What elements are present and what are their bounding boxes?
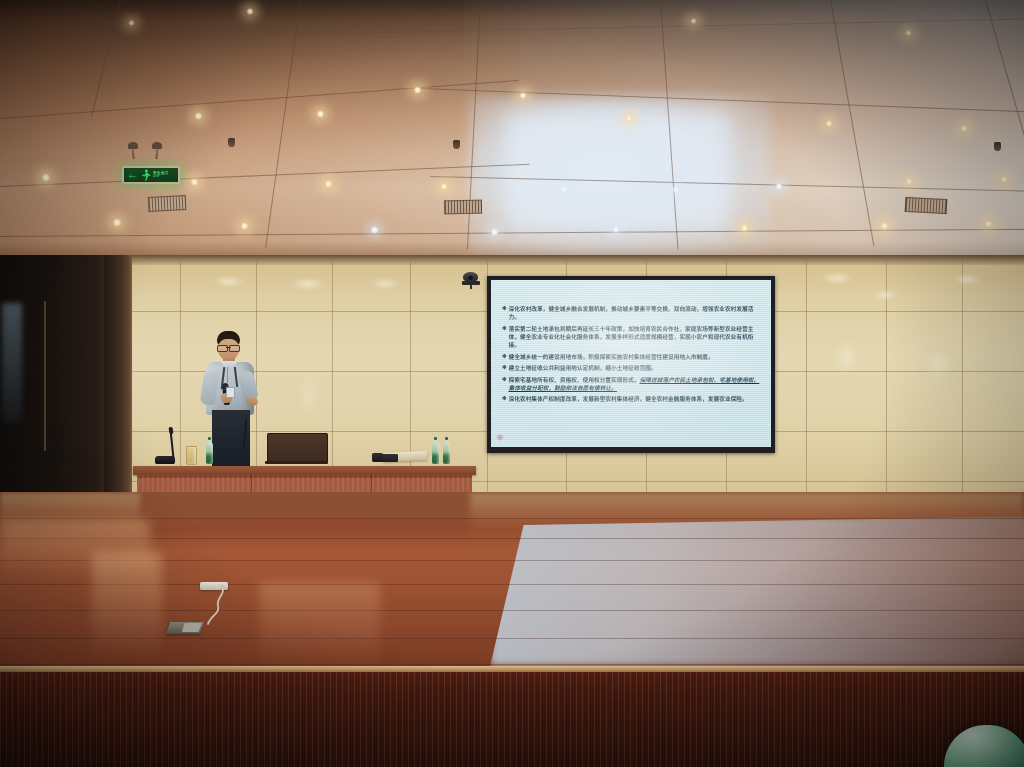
wall-gloss xyxy=(822,273,852,283)
ceiling-downlight xyxy=(905,178,913,185)
ptz-camera-icon xyxy=(462,272,480,288)
exit-sign-text: 安全出口 EXIT xyxy=(153,172,168,179)
wall-header-band xyxy=(0,255,1024,265)
ceiling-air-vent xyxy=(444,200,482,215)
stage-front-panel xyxy=(0,672,1024,767)
ceiling-downlight xyxy=(324,180,333,188)
wall-gloss xyxy=(372,279,398,288)
ceiling-downlight xyxy=(905,30,912,36)
presenter-shirt-placket xyxy=(227,367,228,383)
stage-floor xyxy=(0,492,1024,680)
ceiling-downlight xyxy=(625,115,633,122)
bullet-text: 深化农村集体产权制度改革，发展新型农村集体经济，健全农村金融服务体系，发展农业保… xyxy=(509,396,748,404)
floor-power-socket xyxy=(166,622,204,634)
ceiling-downlight xyxy=(128,20,135,26)
id-badge xyxy=(226,387,235,398)
wall-gloss xyxy=(214,277,244,286)
ceiling-air-vent xyxy=(905,197,948,214)
wall-gloss xyxy=(874,291,896,299)
door-glass xyxy=(2,303,22,423)
ceiling-downlight xyxy=(41,173,51,182)
bottle-body xyxy=(206,443,213,464)
ceiling-downlight xyxy=(240,222,249,230)
slide-bullet: ✻ 深化农村集体产权制度改革，发展新型农村集体经济，健全农村金融服务体系，发展农… xyxy=(502,396,763,404)
water-bottle xyxy=(206,437,213,464)
wall-panel-seam xyxy=(962,259,963,495)
slide-watermark: 中 xyxy=(497,433,503,442)
exit-sign-mount xyxy=(152,142,162,149)
ceiling-downlight xyxy=(960,125,968,132)
slide-bullet: ✻ 探索宅基地所有权、资格权、使用权分置实现形式，保障进城落户农民土地承包权、宅… xyxy=(502,377,763,393)
exit-sign-mount xyxy=(128,142,138,149)
ceiling-air-vent xyxy=(148,195,187,212)
bullet-text-plain: 探索宅基地所有权、资格权、使用权分置实现形式， xyxy=(509,378,640,384)
exit-sign-panel: ← 安全出口 EXIT xyxy=(122,166,180,184)
wall-panel-seam xyxy=(180,259,181,495)
running-person-icon xyxy=(140,169,151,181)
floor-plank-line xyxy=(0,518,1024,519)
floor-specular-streak xyxy=(92,552,162,662)
power-cable xyxy=(196,578,256,634)
telephone-body xyxy=(381,454,398,462)
wall-gloss xyxy=(292,279,324,289)
ceiling-downlight xyxy=(672,186,680,193)
slide-bullet: ✻ 健全城乡统一的建设用地市场，积极探索实施农村集体经营性建设用地入市制度。 xyxy=(502,354,763,362)
ceiling-downlight xyxy=(825,120,833,127)
wall-gloss xyxy=(954,275,980,284)
bullet-text: 探索宅基地所有权、资格权、使用权分置实现形式，保障进城落户农民土地承包权、宅基地… xyxy=(509,377,763,393)
socket-lid xyxy=(182,623,202,632)
camera-arm xyxy=(470,284,472,289)
ceiling-downlight xyxy=(880,222,889,230)
wall-dark-strip xyxy=(104,255,130,495)
ceiling-downlight xyxy=(190,178,199,186)
ceiling-downlight xyxy=(316,110,325,118)
ceiling-downlight xyxy=(112,218,122,227)
ceiling-downlight xyxy=(984,220,993,228)
desk-telephone xyxy=(372,452,398,463)
slide-bullet: ✻ 深化农村改革，健全城乡融合发展机制，推动城乡要素平等交换、双向流动，增强农业… xyxy=(502,306,763,322)
ceiling-downlight xyxy=(440,183,448,190)
bullet-marker-icon: ✻ xyxy=(502,326,507,334)
floor-plank-line xyxy=(0,664,1024,665)
emergency-exit-sign: ← 安全出口 EXIT xyxy=(122,158,180,184)
ceiling: ← 安全出口 EXIT xyxy=(0,0,1024,262)
glasses-icon xyxy=(217,345,240,350)
bullet-text: 建立土地征收公共利益用地认定机制，缩小土地征收范围。 xyxy=(509,365,657,373)
conference-hall-photo: ← 安全出口 EXIT xyxy=(0,0,1024,767)
bullet-marker-icon: ✻ xyxy=(502,306,507,314)
ceiling-sensor-icon xyxy=(994,142,1001,151)
ceiling-downlight xyxy=(690,18,697,24)
floor-plank-line xyxy=(0,538,1024,539)
ceiling-downlight xyxy=(560,186,568,193)
wall-panel-seam xyxy=(332,259,333,495)
glasses-lens-right xyxy=(229,345,240,352)
ceiling-downlight xyxy=(612,226,620,233)
table-top-edge xyxy=(133,466,476,475)
bottle-body xyxy=(443,443,450,464)
stage-front-ribs xyxy=(0,672,1024,767)
ceiling-downlight xyxy=(246,8,254,15)
laptop-base xyxy=(265,461,328,464)
exit-sign-text-en: EXIT xyxy=(153,175,168,178)
slide-bullet: ✻ 建立土地征收公共利益用地认定机制，缩小土地征收范围。 xyxy=(502,365,763,373)
ceiling-sensor-icon xyxy=(453,140,460,149)
ceiling-sensor-icon xyxy=(228,138,235,147)
ceiling-daylight-core xyxy=(505,112,730,232)
wall-gloss xyxy=(300,375,318,415)
wall-panel-seam xyxy=(806,259,807,495)
wall-gloss xyxy=(926,351,952,377)
bullet-marker-icon: ✻ xyxy=(502,354,507,362)
ceiling-downlight xyxy=(1000,176,1008,183)
laptop xyxy=(265,433,328,464)
ceiling-downlight xyxy=(490,228,499,236)
slide-content: ✻ 深化农村改革，健全城乡融合发展机制，推动城乡要素平等交换、双向流动，增强农业… xyxy=(502,306,763,405)
door-edge xyxy=(44,301,46,451)
bullet-marker-icon: ✻ xyxy=(502,377,507,385)
water-bottle xyxy=(432,437,439,464)
ceiling-downlight xyxy=(413,86,422,94)
exit-arrow-icon: ← xyxy=(127,170,138,181)
laptop-lid xyxy=(267,433,328,463)
projection-screen-frame: ✻ 深化农村改革，健全城乡融合发展机制，推动城乡要素平等交换、双向流动，增强农业… xyxy=(487,276,775,453)
tumbler-glass xyxy=(186,446,197,465)
bullet-marker-icon: ✻ xyxy=(502,396,507,404)
bullet-marker-icon: ✻ xyxy=(502,365,507,373)
water-bottle xyxy=(443,437,450,464)
bullet-text: 落实第二轮土地承包到期后再延长三十年政策，加快培育农民合作社、家庭农场等新型农业… xyxy=(509,326,763,350)
wall-gloss xyxy=(836,341,856,373)
bottle-body xyxy=(432,443,439,464)
ceiling-downlight xyxy=(194,112,203,120)
ceiling-downlight xyxy=(740,224,749,232)
bullet-text: 深化农村改革，健全城乡融合发展机制，推动城乡要素平等交换、双向流动，增强农业农村… xyxy=(509,306,763,322)
ceiling-downlight xyxy=(519,92,527,99)
floor-specular-streak xyxy=(260,582,380,672)
ceiling-downlight xyxy=(775,183,783,190)
slide-bullet: ✻ 落实第二轮土地承包到期后再延长三十年政策，加快培育农民合作社、家庭农场等新型… xyxy=(502,326,763,350)
bullet-text: 健全城乡统一的建设用地市场，积极探索实施农村集体经营性建设用地入市制度。 xyxy=(509,354,714,362)
projection-screen: ✻ 深化农村改革，健全城乡融合发展机制，推动城乡要素平等交换、双向流动，增强农业… xyxy=(491,280,771,447)
ceiling-downlight xyxy=(370,226,379,234)
